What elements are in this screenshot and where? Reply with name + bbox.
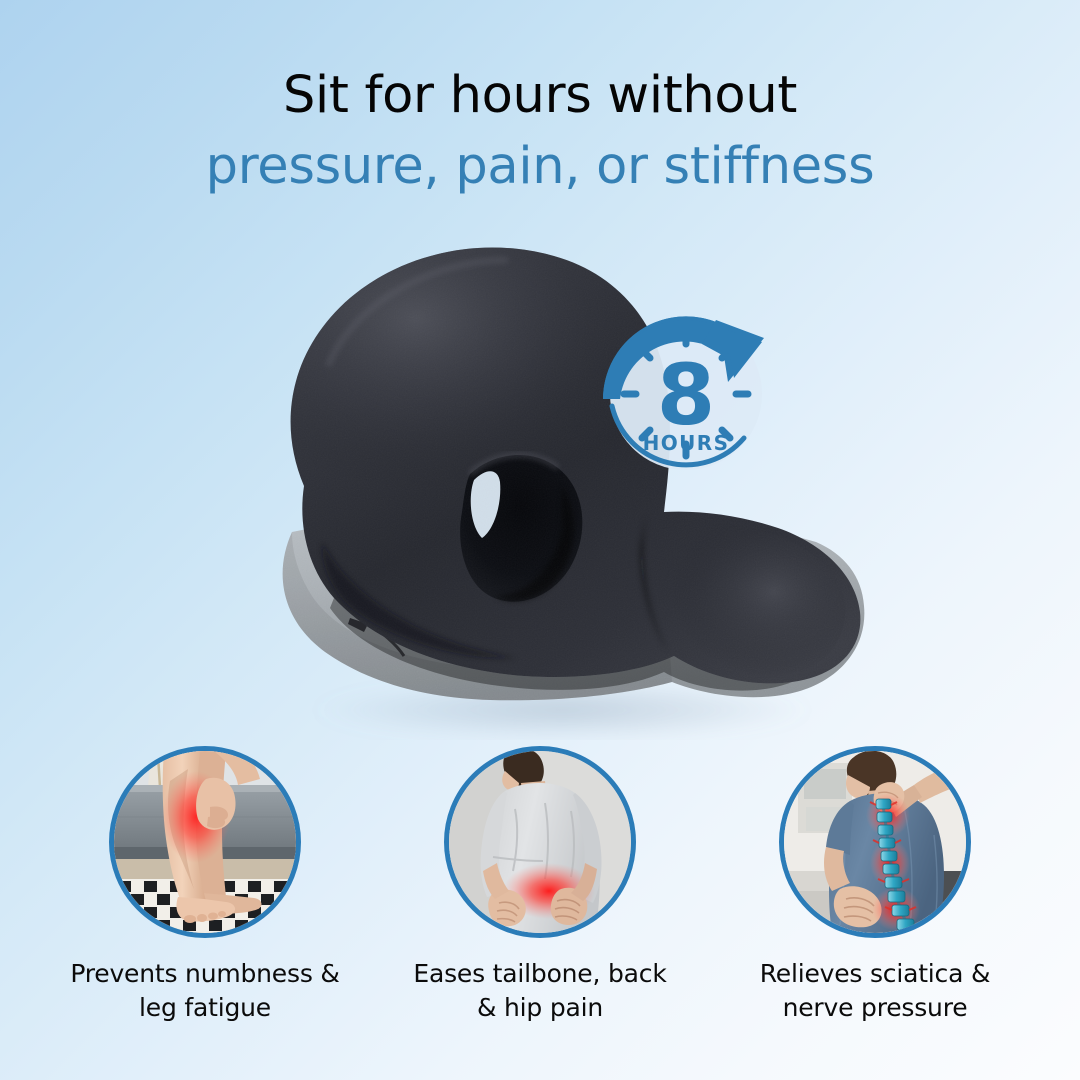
page-title: Sit for hours without pressure, pain, or… <box>0 66 1080 196</box>
leg-pain-photo-icon <box>109 746 301 938</box>
feature-item-tailbone-back-hip: Eases tailbone, back & hip pain <box>380 746 700 1025</box>
lower-back-pain-photo-icon <box>444 746 636 938</box>
badge-number: 8 <box>657 346 715 444</box>
feature-item-sciatica-nerve: Relieves sciatica & nerve pressure <box>715 746 1035 1025</box>
feature-list: Prevents numbness & leg fatigue <box>0 746 1080 1066</box>
feature-caption: Relieves sciatica & nerve pressure <box>715 957 1035 1025</box>
product-image-seat-cushion <box>232 224 892 740</box>
badge-8-hours: 8 HOURS <box>594 298 784 494</box>
sciatica-spine-photo-icon <box>779 746 971 938</box>
badge-unit: HOURS <box>643 431 730 455</box>
feature-caption: Prevents numbness & leg fatigue <box>45 957 365 1025</box>
feature-caption-line-1: Relieves sciatica & <box>715 957 1035 991</box>
feature-item-leg-fatigue: Prevents numbness & leg fatigue <box>45 746 365 1025</box>
feature-caption: Eases tailbone, back & hip pain <box>380 957 700 1025</box>
feature-caption-line-2: & hip pain <box>380 991 700 1025</box>
headline-line-1: Sit for hours without <box>0 66 1080 125</box>
feature-caption-line-1: Prevents numbness & <box>45 957 365 991</box>
headline-line-2: pressure, pain, or stiffness <box>0 137 1080 196</box>
feature-caption-line-2: leg fatigue <box>45 991 365 1025</box>
infographic-canvas: Sit for hours without pressure, pain, or… <box>0 0 1080 1080</box>
feature-caption-line-2: nerve pressure <box>715 991 1035 1025</box>
feature-caption-line-1: Eases tailbone, back <box>380 957 700 991</box>
